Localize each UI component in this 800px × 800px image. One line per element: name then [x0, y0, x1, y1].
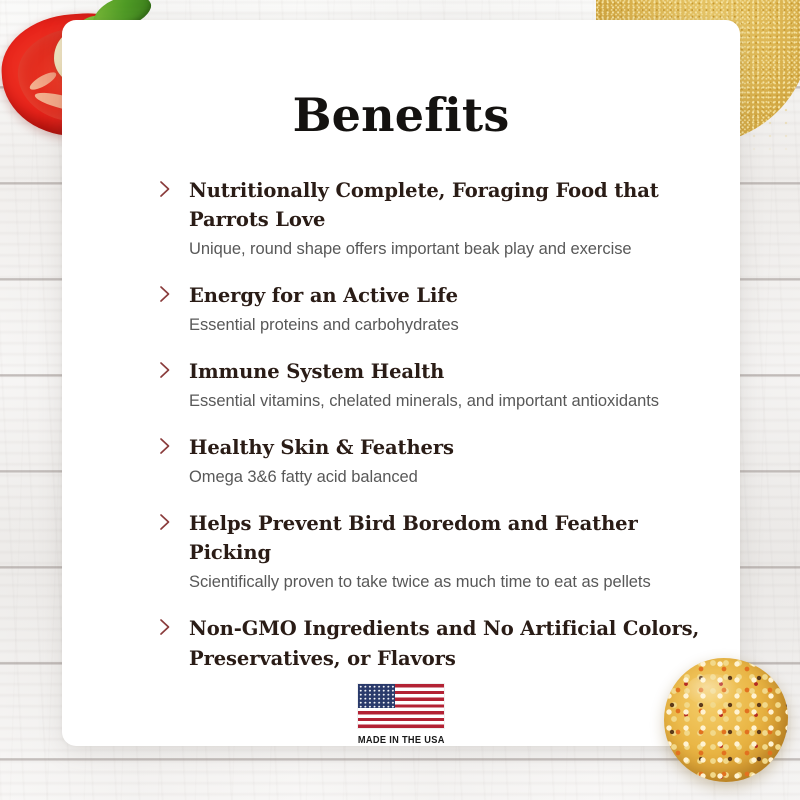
chevron-right-icon: [158, 360, 172, 380]
benefit-item: Non-GMO Ingredients and No Artificial Co…: [158, 614, 710, 674]
flag-canton: [358, 684, 395, 708]
chevron-right-icon: [158, 617, 172, 637]
chevron-right-icon: [158, 179, 172, 199]
benefit-item: Healthy Skin & Feathers Omega 3&6 fatty …: [158, 433, 710, 488]
benefit-heading: Nutritionally Complete, Foraging Food th…: [189, 176, 710, 234]
benefit-item: Nutritionally Complete, Foraging Food th…: [158, 176, 710, 260]
benefit-subtext: Essential vitamins, chelated minerals, a…: [189, 390, 710, 412]
benefit-subtext: Unique, round shape offers important bea…: [189, 238, 710, 260]
benefit-item: Energy for an Active Life Essential prot…: [158, 281, 710, 336]
benefit-item: Immune System Health Essential vitamins,…: [158, 357, 710, 412]
benefit-heading: Energy for an Active Life: [189, 281, 710, 310]
benefits-infographic: Benefits Nutritionally Complete, Foragin…: [0, 0, 800, 800]
benefit-item: Helps Prevent Bird Boredom and Feather P…: [158, 509, 710, 593]
chevron-right-icon: [158, 436, 172, 456]
benefit-heading: Immune System Health: [189, 357, 710, 386]
content-card: Benefits Nutritionally Complete, Foragin…: [62, 20, 740, 746]
us-flag-icon: [358, 684, 444, 728]
page-title: Benefits: [62, 88, 740, 142]
made-in-usa-badge: MADE IN THE USA: [62, 684, 740, 746]
benefits-list: Nutritionally Complete, Foraging Food th…: [158, 176, 710, 678]
benefit-heading: Healthy Skin & Feathers: [189, 433, 710, 462]
benefit-subtext: Omega 3&6 fatty acid balanced: [189, 466, 710, 488]
benefit-subtext: Scientifically proven to take twice as m…: [189, 571, 710, 593]
chevron-right-icon: [158, 512, 172, 532]
flag-stars: [358, 684, 395, 708]
benefit-subtext: Essential proteins and carbohydrates: [189, 314, 710, 336]
chevron-right-icon: [158, 284, 172, 304]
made-in-usa-label: MADE IN THE USA: [358, 734, 445, 746]
benefit-heading: Helps Prevent Bird Boredom and Feather P…: [189, 509, 710, 567]
benefit-heading: Non-GMO Ingredients and No Artificial Co…: [189, 614, 710, 674]
